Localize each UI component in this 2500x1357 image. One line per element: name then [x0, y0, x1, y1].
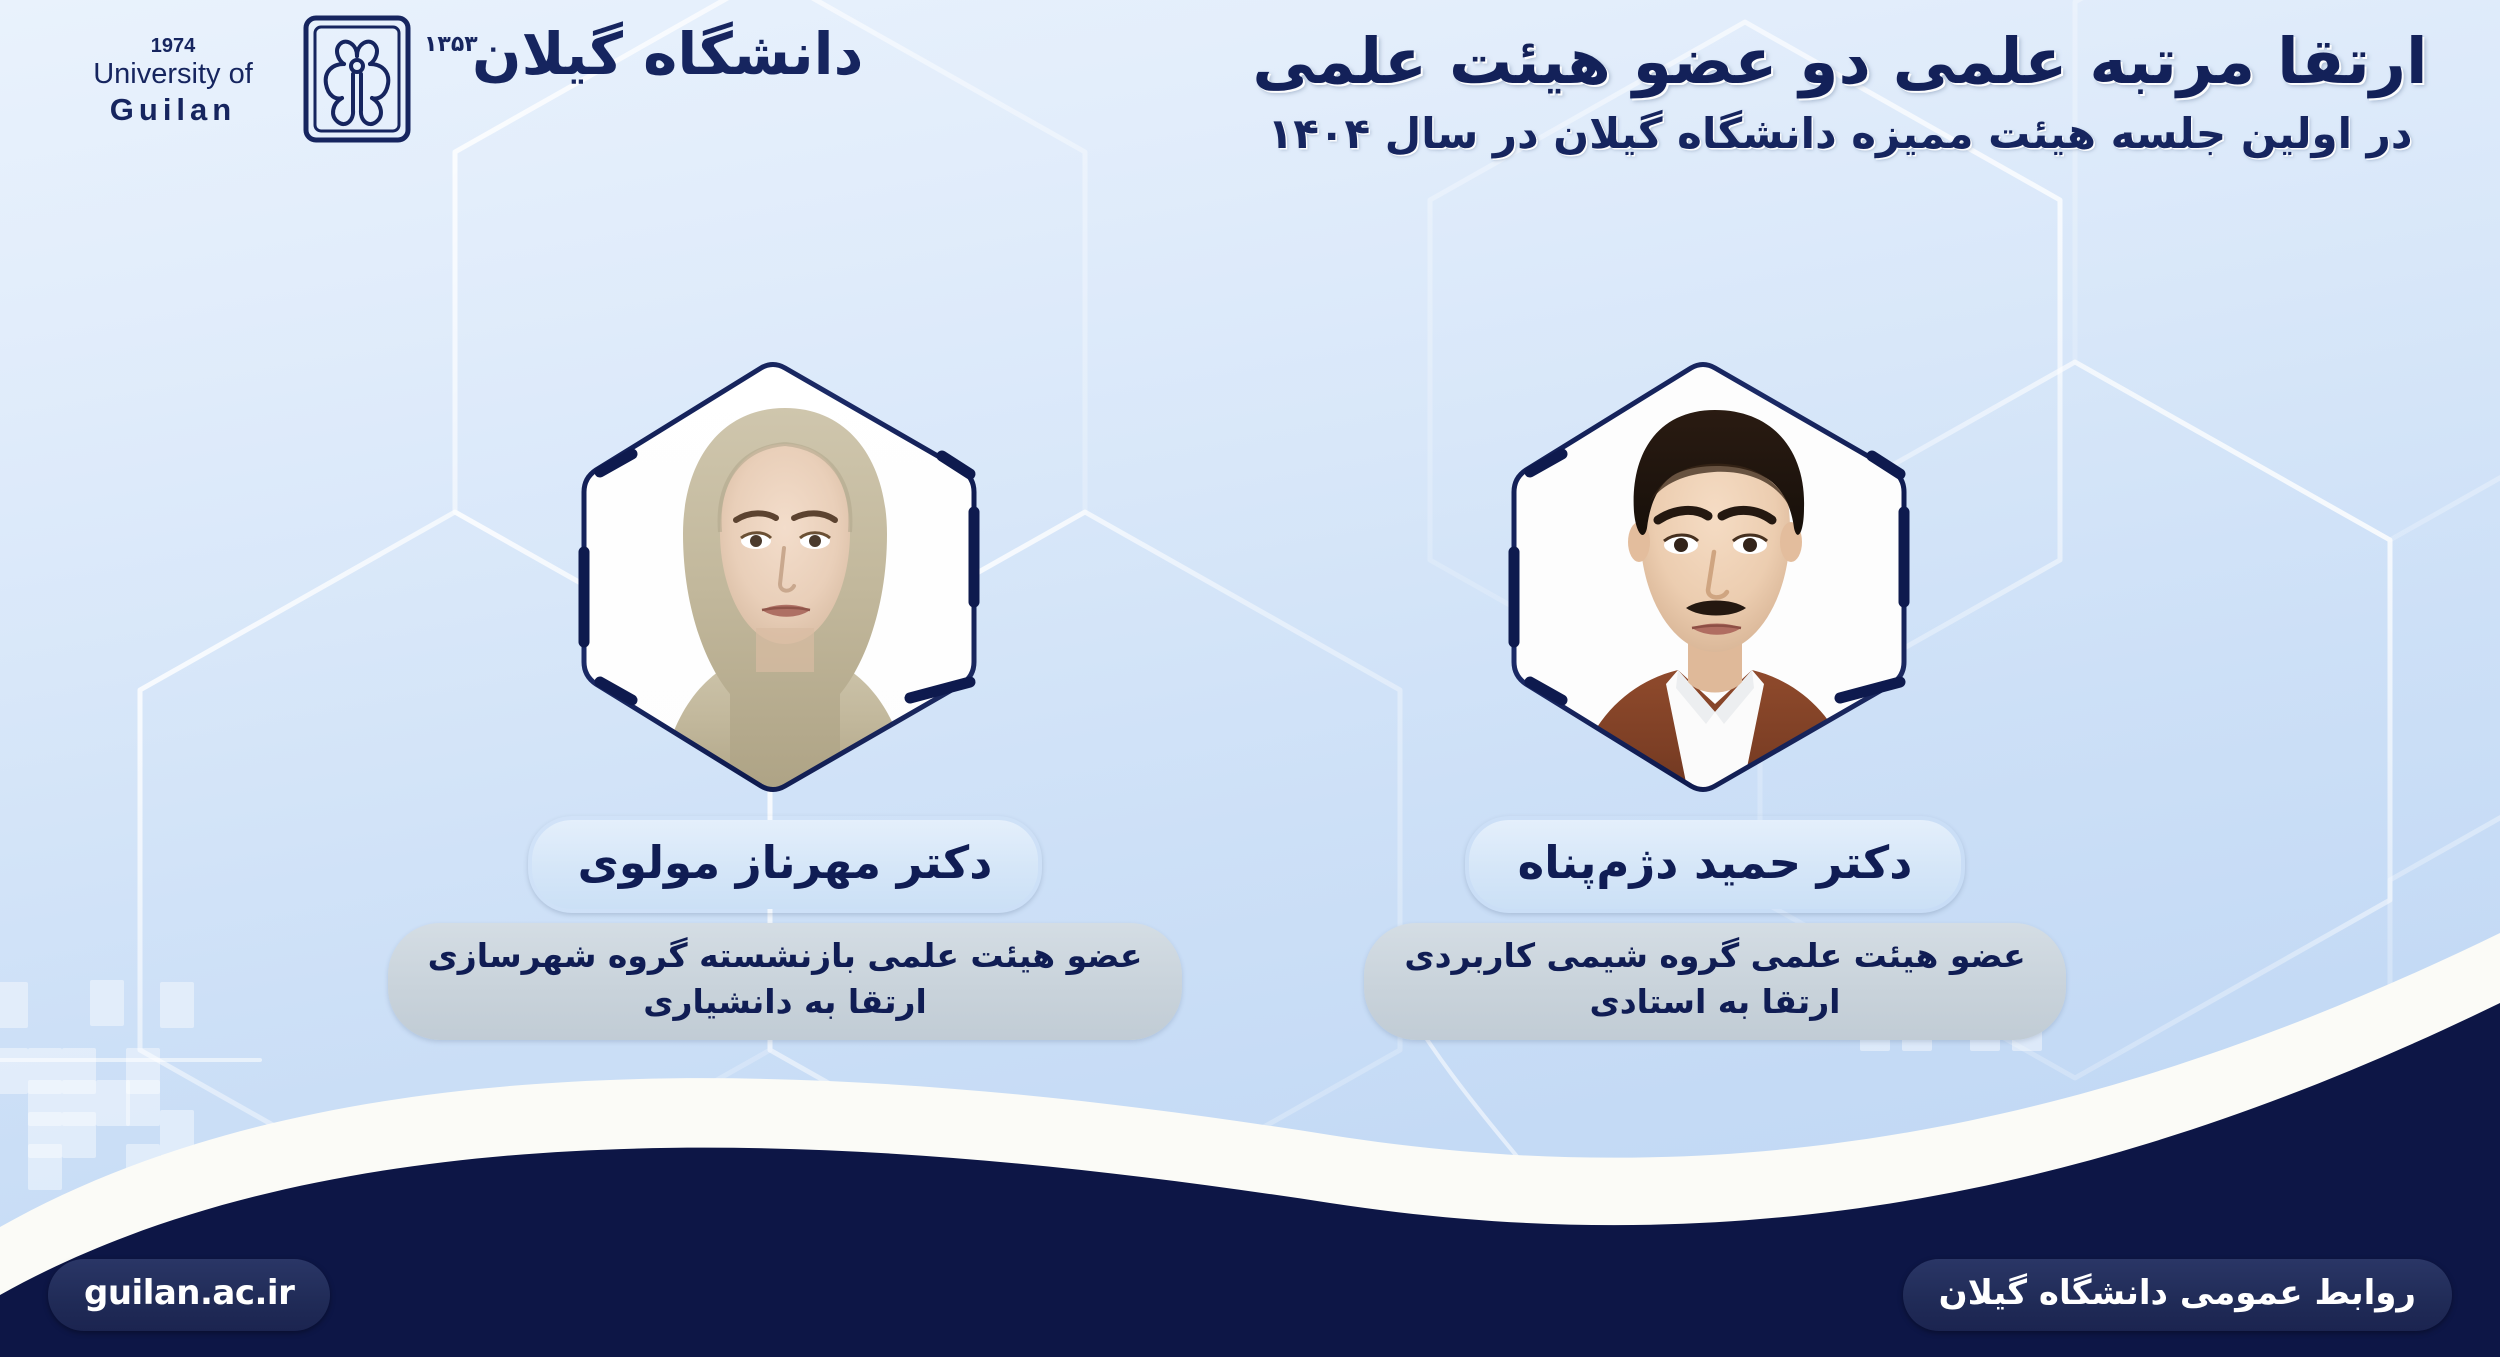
portrait-hexagon-frame-1: [570, 352, 1000, 802]
faculty-name-2: دکتر حمید دژم‌پناه: [1515, 830, 1915, 895]
page-subtitle: در اولین جلسه هیئت ممیزه دانشگاه گیلان د…: [1220, 107, 2460, 162]
faculty-role-badge-2: عضو هیئت علمی گروه شیمی کاربردی ارتقا به…: [1364, 923, 2065, 1040]
page-title: ارتقا مرتبه علمی دو عضو هیئت علمی: [1220, 24, 2460, 101]
guilan-emblem-icon: [302, 14, 412, 144]
faculty-name-1: دکتر مهرناز مولوی: [578, 830, 993, 895]
logo-university-word: University of: [48, 58, 298, 91]
logo-guilan-word: Guilan: [48, 91, 298, 128]
faculty-promotion-1: ارتقا به دانشیاری: [428, 979, 1143, 1025]
poster-canvas: 1974 University of Guilan: [0, 0, 2500, 1357]
announcement-title-block: ارتقا مرتبه علمی دو عضو هیئت علمی در اول…: [1220, 24, 2460, 161]
faculty-card-mehrnaz-molavi: دکتر مهرناز مولوی عضو هیئت علمی بازنشسته…: [475, 352, 1095, 1082]
poster-header: 1974 University of Guilan: [0, 0, 2500, 210]
faculty-department-1: عضو هیئت علمی بازنشسته گروه شهرسازی: [428, 933, 1143, 979]
faculty-name-badge-1: دکتر مهرناز مولوی: [528, 816, 1043, 913]
faculty-department-2: عضو هیئت علمی گروه شیمی کاربردی: [1404, 933, 2025, 979]
logo-university-name-persian: دانشگاه گیلان: [472, 20, 863, 88]
faculty-cards-row: دکتر مهرناز مولوی عضو هیئت علمی بازنشسته…: [0, 352, 2500, 1082]
logo-latin-text: 1974 University of Guilan: [48, 36, 298, 129]
faculty-name-badge-2: دکتر حمید دژم‌پناه: [1465, 816, 1965, 913]
faculty-card-hamid-dezhampanah: دکتر حمید دژم‌پناه عضو هیئت علمی گروه شی…: [1405, 352, 2025, 1082]
university-logo: 1974 University of Guilan: [30, 8, 510, 138]
hexagon-photo-1: [570, 352, 1000, 802]
portrait-hexagon-frame-2: [1500, 352, 1930, 802]
website-url: guilan.ac.ir: [84, 1271, 294, 1315]
hexagon-photo-2: [1500, 352, 1930, 802]
faculty-role-badge-1: عضو هیئت علمی بازنشسته گروه شهرسازی ارتق…: [388, 923, 1183, 1040]
public-relations-badge: روابط عمومی دانشگاه گیلان: [1903, 1259, 2452, 1331]
faculty-promotion-2: ارتقا به استادی: [1404, 979, 2025, 1025]
website-badge[interactable]: guilan.ac.ir: [48, 1259, 330, 1331]
logo-founding-year-persian: ۱۳۵۳: [424, 32, 478, 57]
logo-founding-year-latin: 1974: [48, 36, 298, 56]
public-relations-label: روابط عمومی دانشگاه گیلان: [1939, 1271, 2416, 1315]
